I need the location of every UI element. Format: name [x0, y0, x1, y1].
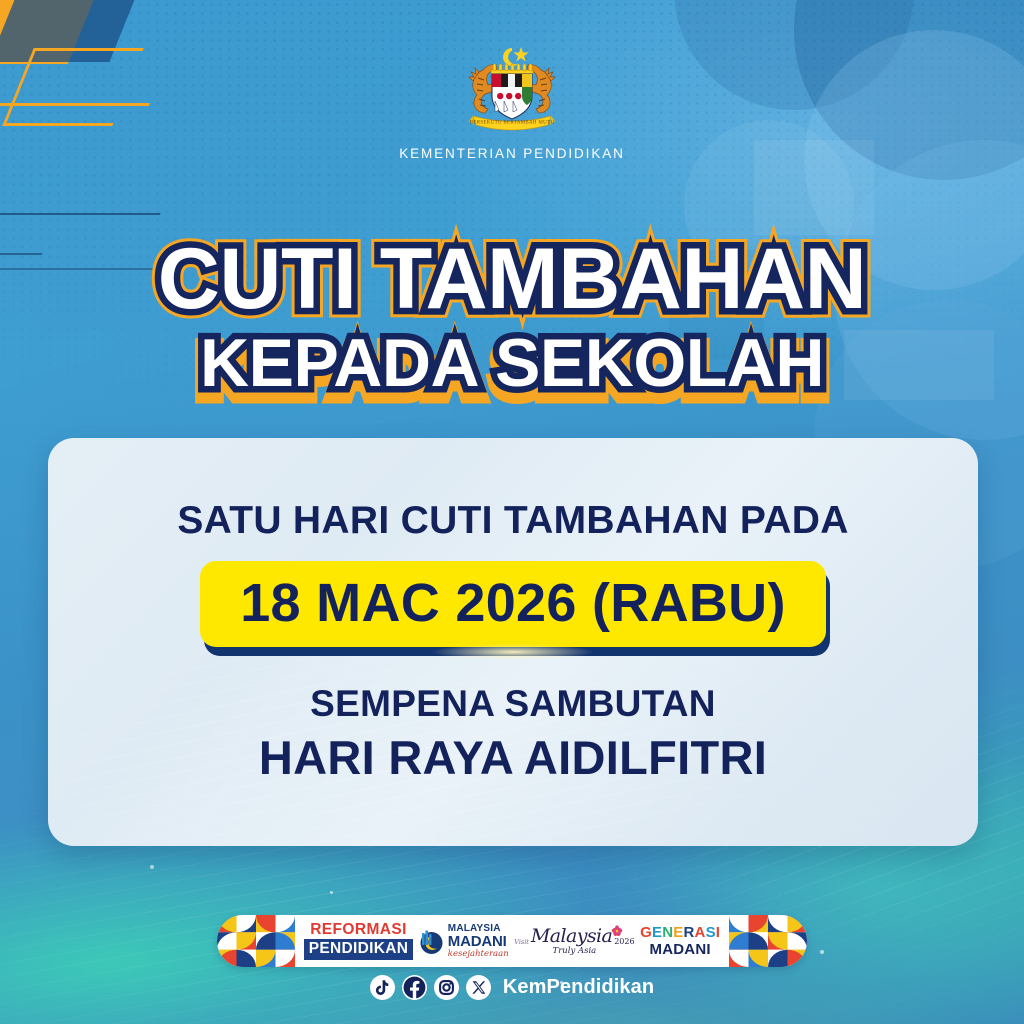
- title-line-2-stack: KEPADA SEKOLAH KEPADA SEKOLAH: [0, 331, 1024, 396]
- facebook-icon[interactable]: [402, 975, 427, 1000]
- logo-group: REFORMASI PENDIDIKAN MALAYSIA MADANI: [295, 915, 729, 967]
- malaysia-madani-logo: MALAYSIA MADANI kesejahteraan: [419, 924, 509, 959]
- visit-tagline: Truly Asia: [553, 947, 597, 956]
- madani-line-3: kesejahteraan: [448, 950, 509, 959]
- svg-text:BERSEKUTU BERTAMBAH MUTU: BERSEKUTU BERTAMBAH MUTU: [470, 121, 555, 126]
- card-subline-1: SEMPENA SAMBUTAN: [310, 683, 716, 725]
- header: BERSEKUTU BERTAMBAH MUTU KEMENTERIAN PEN…: [0, 44, 1024, 161]
- geometric-pattern-icon: [217, 915, 295, 967]
- social-media-row: KemPendidikan: [0, 975, 1024, 1000]
- title-line-2: KEPADA SEKOLAH: [0, 331, 1024, 396]
- madani-text-block: MALAYSIA MADANI kesejahteraan: [448, 924, 509, 959]
- generasi-letter: I: [716, 924, 720, 941]
- sparkle-dot: [150, 865, 154, 869]
- madani-line-1: MALAYSIA: [448, 924, 509, 934]
- visit-malaysia-logo: Visit Malaysia 2026 Truly Asia: [514, 927, 634, 956]
- reformasi-bottom-text: PENDIDIKAN: [304, 939, 413, 960]
- hibiscus-flower-icon: [611, 925, 623, 937]
- partner-logo-bar: REFORMASI PENDIDIKAN MALAYSIA MADANI: [217, 915, 807, 967]
- card-subline-2: HARI RAYA AIDILFITRI: [259, 730, 767, 785]
- madani-line-2: MADANI: [448, 934, 509, 949]
- visit-label: Visit: [514, 939, 529, 946]
- sparkle-dot: [330, 891, 333, 894]
- reformasi-top-text: REFORMASI: [310, 922, 407, 938]
- poster-title: CUTI TAMBAHAN CUTI TAMBAHAN KEPADA SEKOL…: [0, 238, 1024, 396]
- title-line-1-stack: CUTI TAMBAHAN CUTI TAMBAHAN: [0, 238, 1024, 321]
- generasi-bottom-text: MADANI: [650, 942, 711, 957]
- generasi-letter: E: [652, 924, 662, 941]
- generasi-letter: S: [706, 924, 716, 941]
- generasi-madani-logo: GENERASI MADANI: [640, 925, 720, 957]
- generasi-letter: R: [683, 924, 694, 941]
- malaysia-madani-mark-icon: [419, 928, 444, 955]
- instagram-icon[interactable]: [434, 975, 459, 1000]
- generasi-top-text: GENERASI: [640, 925, 720, 940]
- date-text: 18 MAC 2026 (RABU): [200, 561, 826, 647]
- tiktok-icon[interactable]: [370, 975, 395, 1000]
- generasi-letter: A: [695, 924, 706, 941]
- generasi-letter: G: [640, 924, 652, 941]
- card-headline: SATU HARI CUTI TAMBAHAN PADA: [177, 499, 848, 543]
- announcement-card: SATU HARI CUTI TAMBAHAN PADA 18 MAC 2026…: [48, 438, 978, 846]
- date-glow: [433, 644, 593, 660]
- visit-year: 2026: [614, 938, 634, 946]
- poster-canvas: BERSEKUTU BERTAMBAH MUTU KEMENTERIAN PEN…: [0, 0, 1024, 1024]
- reformasi-pendidikan-logo: REFORMASI PENDIDIKAN: [304, 922, 413, 960]
- generasi-letter: E: [673, 924, 683, 941]
- x-twitter-icon[interactable]: [466, 975, 491, 1000]
- ministry-name: KEMENTERIAN PENDIDIKAN: [399, 146, 625, 161]
- generasi-letter: N: [662, 924, 673, 941]
- social-handle: KemPendidikan: [503, 976, 654, 999]
- visit-main-text: Malaysia: [531, 927, 612, 946]
- geometric-pattern-icon: [729, 915, 807, 967]
- malaysia-coat-of-arms-icon: BERSEKUTU BERTAMBAH MUTU: [453, 44, 571, 136]
- sparkle-dot: [820, 950, 824, 954]
- date-highlight: 18 MAC 2026 (RABU): [200, 561, 826, 647]
- title-line-1: CUTI TAMBAHAN: [0, 238, 1024, 321]
